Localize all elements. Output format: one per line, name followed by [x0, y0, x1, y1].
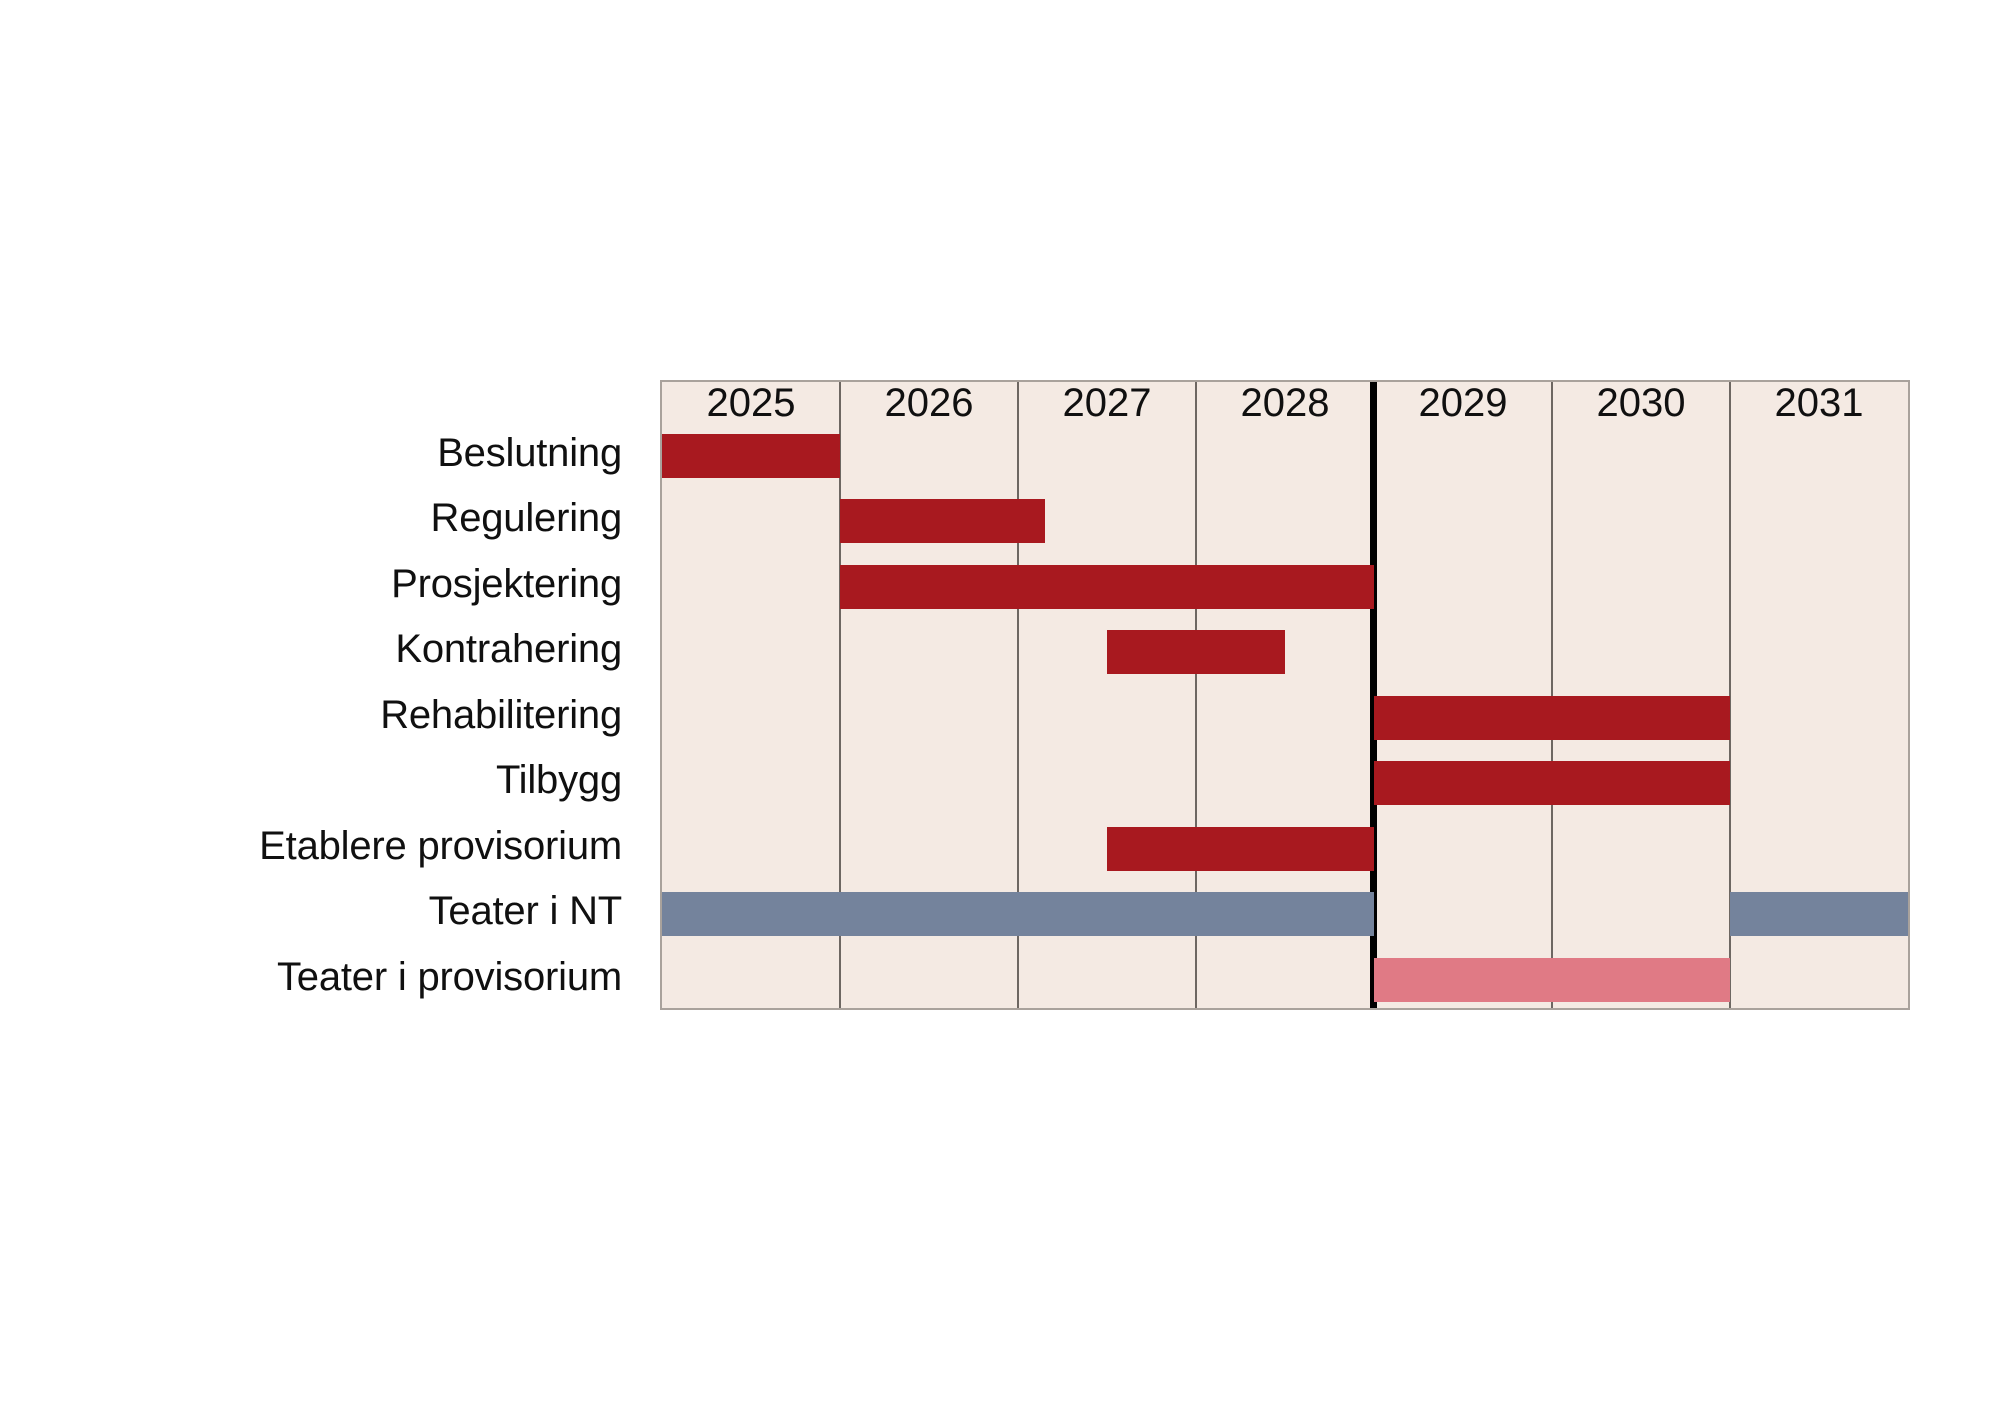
- gantt-bar: [1107, 630, 1285, 674]
- row-label: Regulering: [0, 486, 640, 552]
- year-header-2031: 2031: [1730, 382, 1908, 423]
- year-header-2030: 2030: [1552, 382, 1730, 423]
- gantt-bars-layer: [662, 423, 1908, 1008]
- gantt-bar: [1374, 696, 1730, 740]
- year-header-2026: 2026: [840, 382, 1018, 423]
- row-label-column: BeslutningReguleringProsjekteringKontrah…: [0, 420, 640, 1010]
- year-header-2029: 2029: [1374, 382, 1552, 423]
- gantt-chart-figure: BeslutningReguleringProsjekteringKontrah…: [0, 0, 2000, 1413]
- row-label: Beslutning: [0, 420, 640, 486]
- row-label: Tilbygg: [0, 748, 640, 814]
- row-label: Prosjektering: [0, 551, 640, 617]
- row-label: Etablere provisorium: [0, 813, 640, 879]
- year-header-2025: 2025: [662, 382, 840, 423]
- gantt-bar: [662, 434, 840, 478]
- row-label: Teater i provisorium: [0, 944, 640, 1010]
- row-label: Teater i NT: [0, 879, 640, 945]
- gantt-bar: [1374, 761, 1730, 805]
- row-label: Rehabilitering: [0, 682, 640, 748]
- year-header-row: 2025202620272028202920302031: [662, 382, 1908, 423]
- gantt-bar: [1374, 958, 1730, 1002]
- row-label: Kontrahering: [0, 617, 640, 683]
- gantt-bar: [662, 892, 1374, 936]
- year-header-2028: 2028: [1196, 382, 1374, 423]
- gantt-bar: [840, 565, 1374, 609]
- gantt-bar: [840, 499, 1045, 543]
- year-header-2027: 2027: [1018, 382, 1196, 423]
- gantt-grid: 2025202620272028202920302031: [660, 380, 1910, 1010]
- gantt-bar: [1107, 827, 1374, 871]
- gantt-bar: [1730, 892, 1908, 936]
